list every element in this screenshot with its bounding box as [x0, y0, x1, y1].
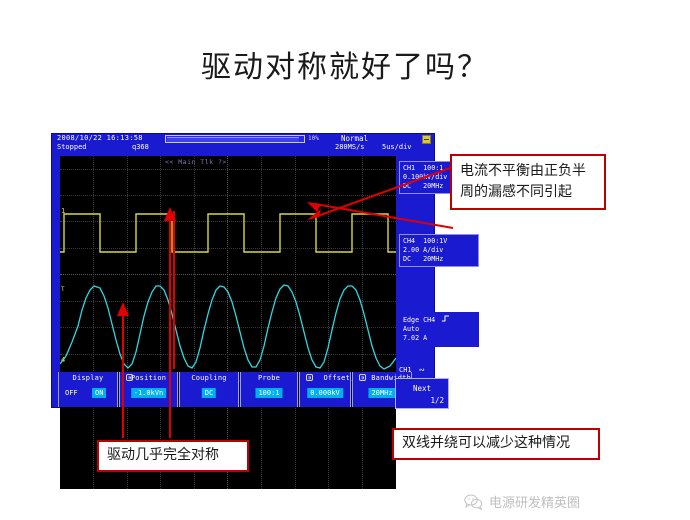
- annotation-drive-symmetric: 驱动几乎完全对称: [97, 440, 249, 472]
- menu-coupling-value[interactable]: DC: [202, 388, 216, 398]
- status-trigger-mode: Normal: [341, 134, 368, 143]
- menu-next-button[interactable]: Next 1/2: [395, 378, 449, 409]
- ch4-probe: 100:1V: [423, 237, 447, 245]
- footer-brand: 电源研发精英圈: [489, 492, 580, 511]
- menu-display-on[interactable]: ON: [92, 388, 106, 398]
- menu-probe-value[interactable]: 100:1: [255, 388, 282, 398]
- measurement-readout: P-P(C1) 346.667V: [100, 492, 176, 500]
- trigger-level: 7.02 A: [403, 334, 475, 343]
- ch4-bandwidth: 20MHz: [423, 255, 443, 263]
- ch1-position-marker[interactable]: 1: [61, 207, 65, 215]
- wechat-icon: [464, 494, 483, 510]
- arrow-from-drive-annotation-left: [115, 300, 135, 440]
- measurement-value: 346.667V: [142, 492, 176, 500]
- menu-probe-label: Probe: [241, 374, 297, 382]
- menu-bandwidth-value[interactable]: 20MHz: [368, 388, 395, 398]
- ch4-position-marker[interactable]: 4: [61, 356, 65, 364]
- arrow-to-current-annotation-lower: [305, 200, 455, 230]
- menu-active-channel-label: CH1: [399, 366, 412, 374]
- status-memory: q368: [132, 143, 149, 151]
- menu-display[interactable]: Display OFF ON: [58, 372, 118, 407]
- memory-progress-bar[interactable]: [165, 135, 305, 143]
- menu-coupling[interactable]: Coupling DC: [179, 372, 239, 407]
- menu-next-label: Next: [396, 384, 448, 393]
- status-sample-rate: 280MS/s: [335, 143, 365, 151]
- menu-display-label: Display: [59, 374, 117, 382]
- menu-offset-label: Offset: [300, 374, 353, 382]
- menu-offset-value[interactable]: 0.000kV: [307, 388, 343, 398]
- waveform-icon: ∾: [419, 366, 425, 374]
- status-time-per-div: 5us/div: [382, 143, 412, 151]
- ch4-name: CH4: [403, 237, 415, 245]
- annotation-current-imbalance: 电流不平衡由正负半周的漏感不同引起: [450, 154, 606, 210]
- trigger-level-marker[interactable]: T: [61, 286, 65, 293]
- menu-next-page: 1/2: [430, 396, 444, 405]
- trigger-mode: Auto: [403, 325, 475, 334]
- memory-progress-fill: [167, 137, 299, 142]
- menu-active-channel: CH1 ∾: [399, 366, 425, 374]
- menu-coupling-label: Coupling: [180, 374, 238, 382]
- save-icon[interactable]: [422, 135, 431, 144]
- measurement-label: P-P(C1): [100, 492, 130, 500]
- rising-edge-icon: [442, 315, 450, 325]
- annotation-bifilar-winding: 双线并绕可以减少这种情况: [392, 428, 600, 460]
- status-run-state: Stopped: [57, 143, 87, 151]
- status-datetime: 2008/10/22 16:13:58: [57, 134, 143, 142]
- menu-probe[interactable]: Probe 100:1: [240, 372, 298, 407]
- softkey-menu: Display OFF ON ◑ Position -1.0kVn Coupli…: [54, 372, 434, 407]
- trigger-info-panel[interactable]: Edge CH4 Auto 7.02 A: [399, 312, 479, 347]
- menu-display-off[interactable]: OFF: [62, 388, 81, 398]
- memory-progress-pct: 10%: [308, 135, 319, 142]
- ch4-coupling: DC: [403, 255, 411, 263]
- scope-status-bar: 2008/10/22 16:13:58 Stopped q368 10% Nor…: [52, 134, 436, 156]
- page-title: 驱动对称就好了吗？: [0, 42, 690, 86]
- menu-offset[interactable]: ◑ Offset 0.000kV: [299, 372, 351, 407]
- arrow-from-drive-annotation-right: [160, 205, 180, 440]
- ch4-trace: [60, 285, 396, 369]
- ch4-scale: 2.00 A/div: [403, 246, 475, 255]
- footer-watermark: 电源研发精英圈: [464, 492, 580, 511]
- trigger-source: Edge CH4: [403, 316, 435, 324]
- ch4-info-panel[interactable]: CH4 100:1V 2.00 A/div DC 20MHz: [399, 234, 479, 267]
